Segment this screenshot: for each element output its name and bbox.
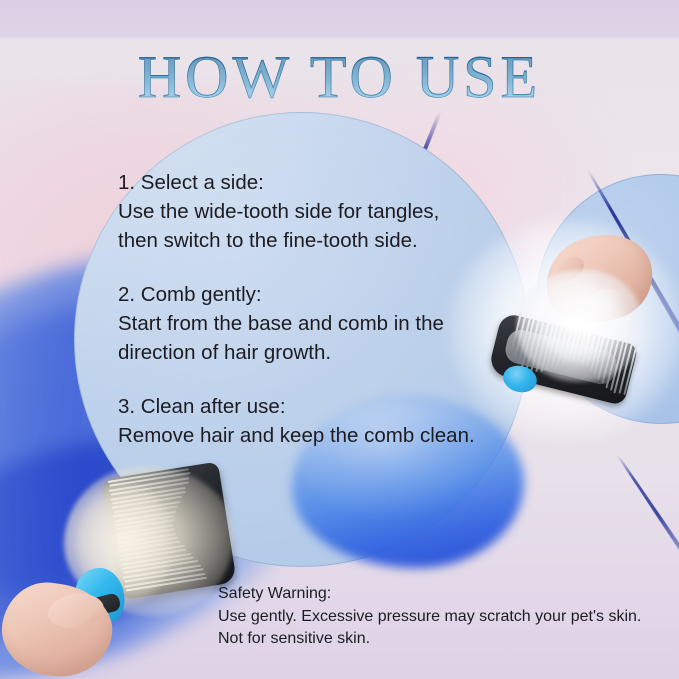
fur-tuft-highlight <box>541 286 627 364</box>
safety-warning-line-3: Not for sensitive skin. <box>218 628 668 651</box>
instruction-steps: 1. Select a side: Use the wide-tooth sid… <box>118 168 518 450</box>
how-to-use-poster: HOW TO USE 1. Select a side: Use the wid… <box>0 0 679 679</box>
photo-hand-holding-comb <box>2 462 242 679</box>
step-2-line-2: Start from the base and comb in the <box>118 309 518 338</box>
safety-warning-line-2: Use gently. Excessive pressure may scrat… <box>218 606 668 629</box>
step-1-line-2: Use the wide-tooth side for tangles, <box>118 197 518 226</box>
safety-warning: Safety Warning: Use gently. Excessive pr… <box>218 583 668 651</box>
safety-warning-heading: Safety Warning: <box>218 583 668 606</box>
page-title: HOW TO USE <box>0 47 679 107</box>
step-3-heading: 3. Clean after use: <box>118 392 518 421</box>
step-1: 1. Select a side: Use the wide-tooth sid… <box>118 168 518 255</box>
step-1-heading: 1. Select a side: <box>118 168 518 197</box>
step-2-heading: 2. Comb gently: <box>118 280 518 309</box>
step-3: 3. Clean after use: Remove hair and keep… <box>118 392 518 450</box>
step-2: 2. Comb gently: Start from the base and … <box>118 280 518 367</box>
step-2-line-3: direction of hair growth. <box>118 338 518 367</box>
step-3-line-2: Remove hair and keep the comb clean. <box>118 421 518 450</box>
step-1-line-3: then switch to the fine-tooth side. <box>118 226 518 255</box>
